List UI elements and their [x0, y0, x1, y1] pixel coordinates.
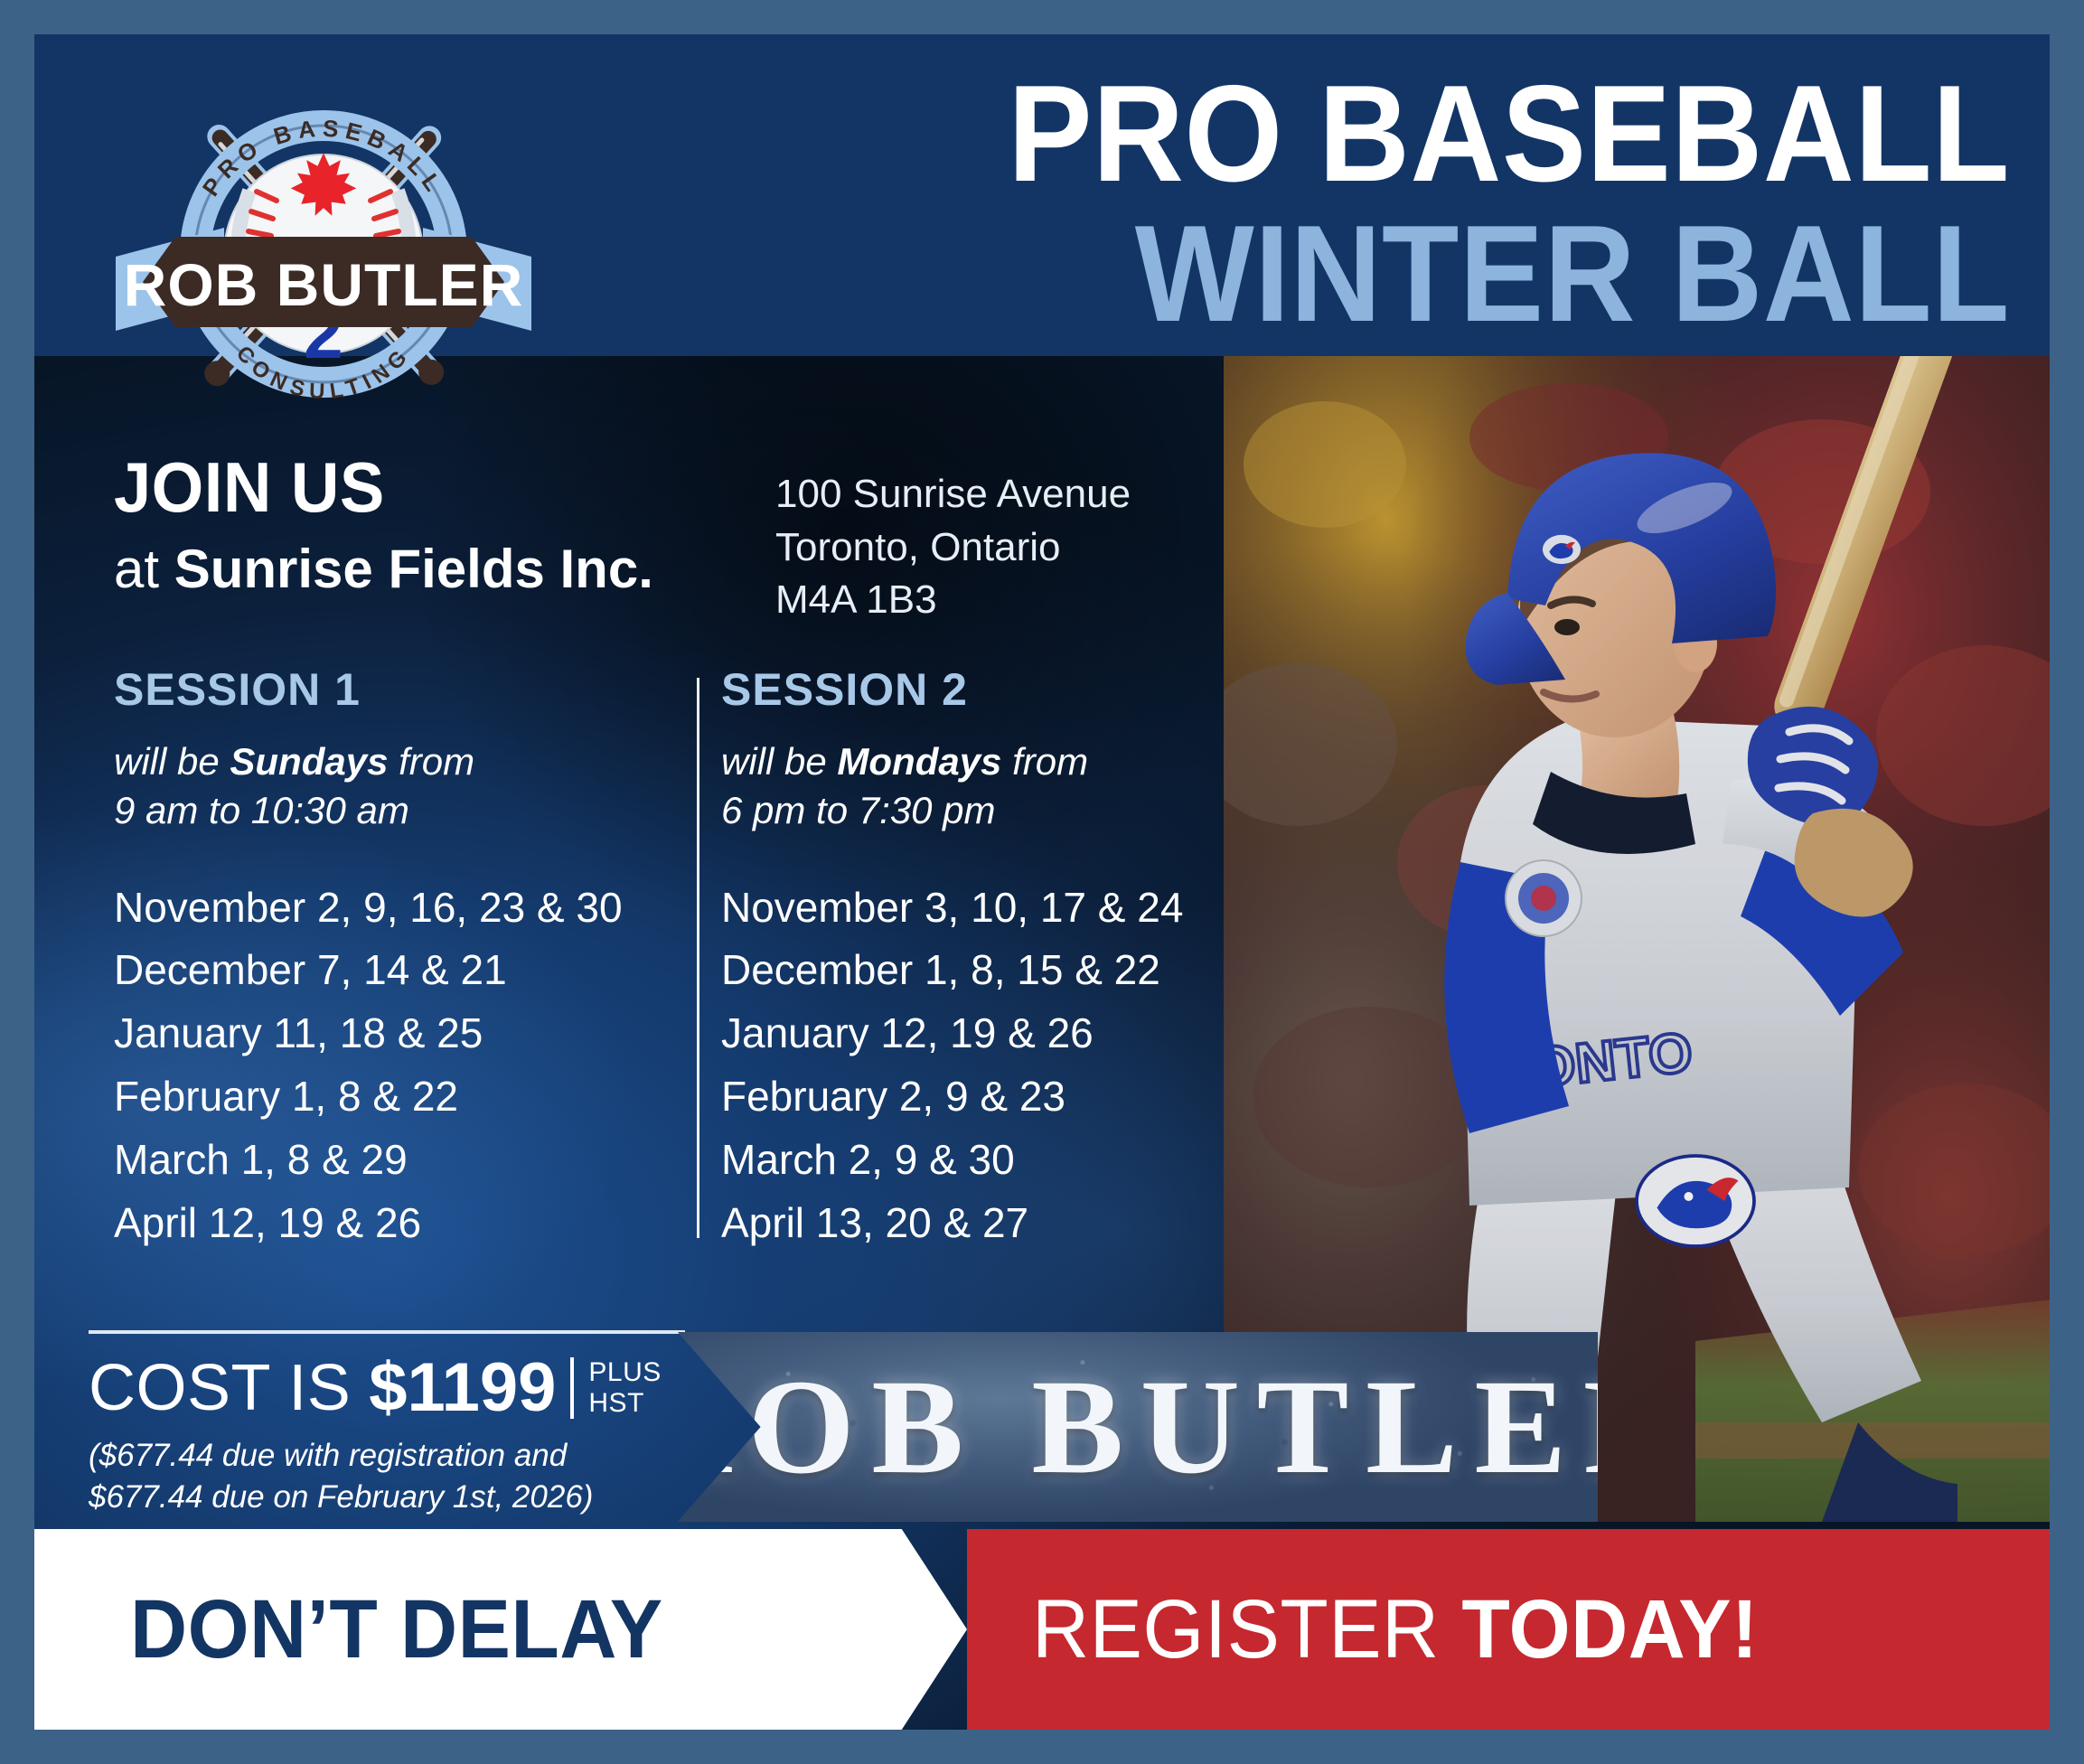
- venue-prefix: at: [114, 539, 174, 599]
- session-2-time: 6 pm to 7:30 pm: [721, 789, 996, 831]
- session-2-sub-prefix: will be: [721, 740, 837, 783]
- cta-bar: DON’T DELAY REGISTER TODAY!: [34, 1529, 2050, 1730]
- session-1-column: SESSION 1 will be Sundays from 9 am to 1…: [114, 667, 692, 1255]
- session-1-date-row: December 7, 14 & 21: [114, 939, 692, 1002]
- session-2-date-row: April 13, 20 & 27: [721, 1192, 1263, 1255]
- venue-address: 100 Sunrise Avenue Toronto, Ontario M4A …: [775, 468, 1131, 627]
- venue-name: Sunrise Fields Inc.: [174, 539, 653, 599]
- rob-butler-banner: ROB BUTLER: [678, 1332, 1598, 1522]
- session-1-date-row: January 11, 18 & 25: [114, 1002, 692, 1065]
- session-2-date-row: February 2, 9 & 23: [721, 1065, 1263, 1129]
- cta-dont-delay[interactable]: DON’T DELAY: [34, 1529, 967, 1730]
- poster: 2 ROB BUTLER PRO BASEBALL CONSULTING PRO…: [0, 0, 2084, 1764]
- address-line-3: M4A 1B3: [775, 574, 1131, 627]
- address-line-2: Toronto, Ontario: [775, 521, 1131, 575]
- cost-payment-note: ($677.44 due with registration and $677.…: [89, 1435, 685, 1518]
- session-1-heading: SESSION 1: [114, 667, 692, 712]
- address-line-1: 100 Sunrise Avenue: [775, 468, 1131, 521]
- cost-tax-note: PLUS HST: [570, 1357, 661, 1418]
- session-2-heading: SESSION 2: [721, 667, 1263, 712]
- title-line-1: PRO BASEBALL: [774, 67, 2010, 202]
- cost-label: COST IS: [89, 1356, 351, 1421]
- session-1-sub-suffix: from: [388, 740, 474, 783]
- cost-amount: $1199: [369, 1354, 556, 1422]
- poster-title: PRO BASEBALL WINTER BALL: [667, 67, 2010, 342]
- cost-block: COST IS $1199 PLUS HST ($677.44 due with…: [89, 1330, 685, 1540]
- cta-dont-delay-label: DON’T DELAY: [130, 1582, 663, 1677]
- cta-today-word: TODAY!: [1461, 1583, 1758, 1675]
- session-2-column: SESSION 2 will be Mondays from 6 pm to 7…: [721, 667, 1263, 1255]
- rob-butler-logo: 2 ROB BUTLER PRO BASEBALL CONSULTING: [89, 60, 559, 439]
- poster-inner: 2 ROB BUTLER PRO BASEBALL CONSULTING PRO…: [34, 34, 2050, 1730]
- cta-register-today[interactable]: REGISTER TODAY!: [967, 1529, 2050, 1730]
- session-1-dates: November 2, 9, 16, 23 & 30 December 7, 1…: [114, 877, 692, 1255]
- session-2-date-row: November 3, 10, 17 & 24: [721, 877, 1263, 940]
- session-2-date-row: December 1, 8, 15 & 22: [721, 939, 1263, 1002]
- cost-tax-line-1: PLUS: [588, 1357, 661, 1387]
- session-1-schedule: will be Sundays from 9 am to 10:30 am: [114, 737, 692, 835]
- sessions-divider: [697, 678, 699, 1238]
- join-us-heading: JOIN US: [114, 452, 715, 522]
- session-2-dates: November 3, 10, 17 & 24 December 1, 8, 1…: [721, 877, 1263, 1255]
- title-line-2: WINTER BALL: [774, 207, 2010, 342]
- session-1-date-row: April 12, 19 & 26: [114, 1192, 692, 1255]
- cost-rule-top: [89, 1330, 685, 1334]
- session-1-time: 9 am to 10:30 am: [114, 789, 409, 831]
- session-2-date-row: March 2, 9 & 30: [721, 1129, 1263, 1192]
- session-1-day: Sundays: [230, 740, 388, 783]
- session-1-date-row: November 2, 9, 16, 23 & 30: [114, 877, 692, 940]
- venue-line: at Sunrise Fields Inc.: [114, 542, 746, 596]
- session-1-date-row: February 1, 8 & 22: [114, 1065, 692, 1129]
- session-1-date-row: March 1, 8 & 29: [114, 1129, 692, 1192]
- session-2-day: Mondays: [837, 740, 1001, 783]
- cost-headline: COST IS $1199 PLUS HST: [89, 1354, 685, 1422]
- session-1-sub-prefix: will be: [114, 740, 230, 783]
- session-2-schedule: will be Mondays from 6 pm to 7:30 pm: [721, 737, 1263, 835]
- cta-register-today-label: REGISTER TODAY!: [1032, 1582, 1759, 1677]
- session-2-date-row: January 12, 19 & 26: [721, 1002, 1263, 1065]
- session-2-sub-suffix: from: [1001, 740, 1088, 783]
- logo-name: ROB BUTLER: [124, 251, 524, 318]
- cta-register-word: REGISTER: [1032, 1583, 1461, 1675]
- join-us-block: JOIN US at Sunrise Fields Inc.: [114, 452, 746, 596]
- cost-tax-line-2: HST: [588, 1388, 644, 1418]
